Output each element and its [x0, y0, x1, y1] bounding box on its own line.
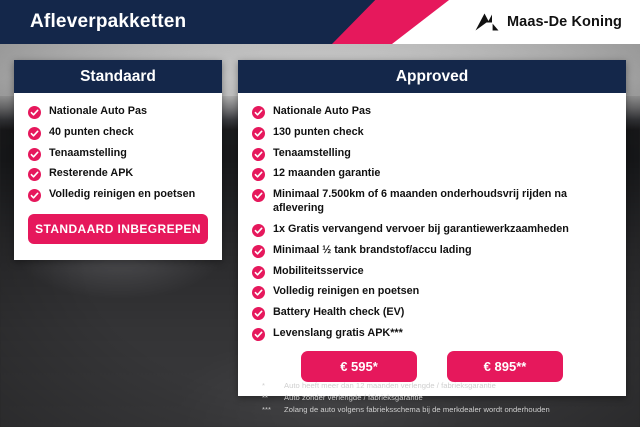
feature-label: Minimaal 7.500km of 6 maanden onderhouds… [273, 188, 567, 214]
footnote-text: Auto heeft meer dan 12 maanden verlengde… [284, 380, 634, 392]
feature-item: Mobiliteitsservice [252, 265, 612, 279]
feature-label: 12 maanden garantie [273, 167, 380, 179]
feature-item: Nationale Auto Pas [252, 105, 612, 119]
card-standaard: Standaard Nationale Auto Pas40 punten ch… [14, 60, 222, 260]
maas-de-koning-m-mark-icon [474, 12, 500, 32]
feature-item: Minimaal 7.500km of 6 maanden onderhouds… [252, 188, 612, 216]
check-circle-icon [252, 266, 265, 279]
footnote-row: ***Zolang de auto volgens fabrieksschema… [262, 404, 634, 416]
feature-label: Volledig reinigen en poetsen [273, 285, 419, 297]
card-approved-body: Nationale Auto Pas130 punten checkTenaam… [238, 93, 626, 396]
feature-label: Mobiliteitsservice [273, 265, 364, 277]
feature-item: Tenaamstelling [252, 147, 612, 161]
standaard-inbegrepen-button[interactable]: STANDAARD INBEGREPEN [28, 214, 208, 244]
feature-item: 40 punten check [28, 126, 208, 140]
feature-label: Nationale Auto Pas [49, 105, 147, 117]
feature-label: Nationale Auto Pas [273, 105, 371, 117]
footnote-text: Auto zonder verlengde / fabrieksgarantie [284, 392, 634, 404]
feature-label: Battery Health check (EV) [273, 306, 404, 318]
footnote-text: Zolang de auto volgens fabrieksschema bi… [284, 404, 634, 416]
feature-list-approved: Nationale Auto Pas130 punten checkTenaam… [252, 105, 612, 341]
card-approved-title: Approved [238, 60, 626, 93]
footnote-row: **Auto zonder verlengde / fabrieksgarant… [262, 392, 634, 404]
brand-name: Maas-De Koning [507, 14, 622, 30]
check-circle-icon [252, 127, 265, 140]
check-circle-icon [28, 127, 41, 140]
card-approved: Approved Nationale Auto Pas130 punten ch… [238, 60, 626, 396]
check-circle-icon [252, 148, 265, 161]
feature-item: Levenslang gratis APK*** [252, 327, 612, 341]
feature-item: Nationale Auto Pas [28, 105, 208, 119]
feature-list-standaard: Nationale Auto Pas40 punten checkTenaams… [28, 105, 208, 202]
card-standaard-body: Nationale Auto Pas40 punten checkTenaams… [14, 93, 222, 260]
footnote-marker: ** [262, 392, 284, 404]
feature-item: Volledig reinigen en poetsen [28, 188, 208, 202]
check-circle-icon [28, 106, 41, 119]
check-circle-icon [252, 224, 265, 237]
price-button-1[interactable]: € 595* [301, 351, 417, 382]
price-button-2[interactable]: € 895** [447, 351, 563, 382]
feature-item: Volledig reinigen en poetsen [252, 285, 612, 299]
page-header: Afleverpakketten Maas-De Koning [0, 0, 640, 44]
card-standaard-title: Standaard [14, 60, 222, 93]
feature-label: 1x Gratis vervangend vervoer bij garanti… [273, 223, 569, 235]
feature-item: Minimaal ½ tank brandstof/accu lading [252, 244, 612, 258]
feature-item: 130 punten check [252, 126, 612, 140]
feature-label: 40 punten check [49, 126, 134, 138]
check-circle-icon [252, 168, 265, 181]
check-circle-icon [28, 148, 41, 161]
feature-label: 130 punten check [273, 126, 364, 138]
check-circle-icon [28, 189, 41, 202]
footnote-row: *Auto heeft meer dan 12 maanden verlengd… [262, 380, 634, 392]
feature-label: Tenaamstelling [273, 147, 351, 159]
feature-item: 12 maanden garantie [252, 167, 612, 181]
check-circle-icon [252, 245, 265, 258]
check-circle-icon [252, 286, 265, 299]
check-circle-icon [28, 168, 41, 181]
feature-label: Minimaal ½ tank brandstof/accu lading [273, 244, 472, 256]
feature-item: Battery Health check (EV) [252, 306, 612, 320]
footnote-marker: * [262, 380, 284, 392]
check-circle-icon [252, 328, 265, 341]
feature-item: Resterende APK [28, 167, 208, 181]
feature-label: Volledig reinigen en poetsen [49, 188, 195, 200]
feature-label: Levenslang gratis APK*** [273, 327, 403, 339]
price-button-row: € 595*€ 895** [252, 351, 612, 382]
brand-logo: Maas-De Koning [474, 0, 622, 44]
check-circle-icon [252, 106, 265, 119]
check-circle-icon [252, 307, 265, 320]
feature-label: Resterende APK [49, 167, 133, 179]
footnote-marker: *** [262, 404, 284, 416]
footnotes: *Auto heeft meer dan 12 maanden verlengd… [262, 380, 634, 415]
page-title: Afleverpakketten [30, 0, 186, 44]
check-circle-icon [252, 189, 265, 202]
feature-item: Tenaamstelling [28, 147, 208, 161]
feature-label: Tenaamstelling [49, 147, 127, 159]
feature-item: 1x Gratis vervangend vervoer bij garanti… [252, 223, 612, 237]
